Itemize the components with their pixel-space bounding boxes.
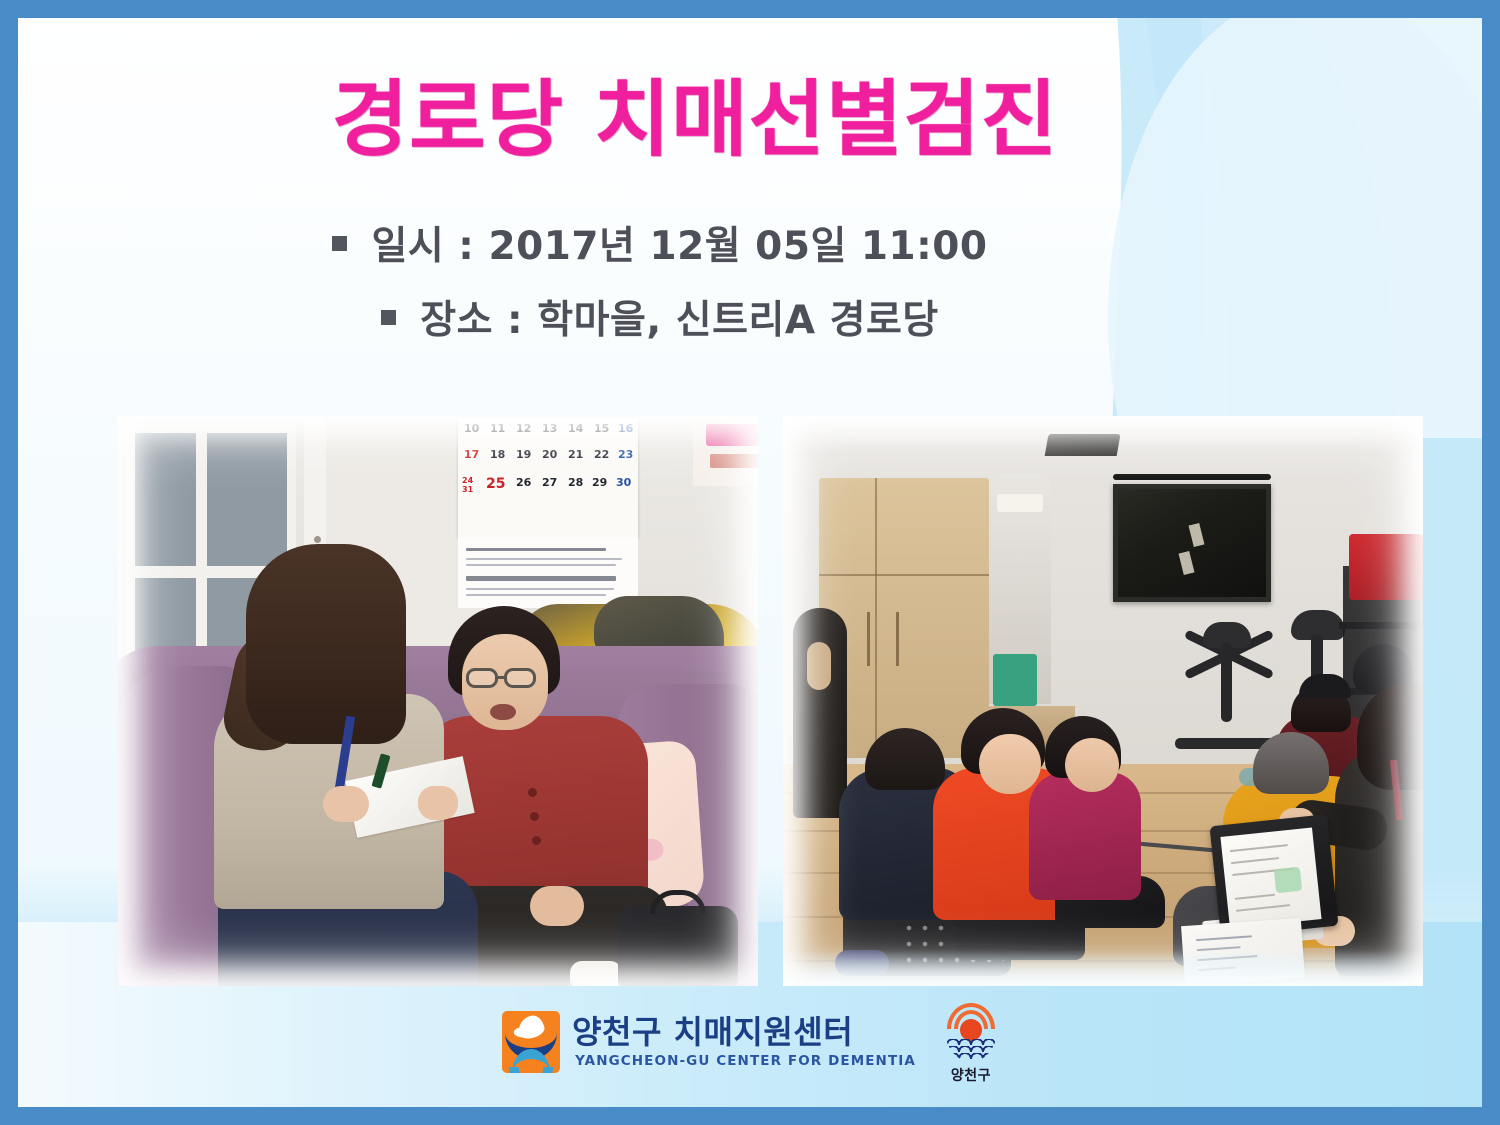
emblem-wave-line [947, 1053, 995, 1059]
senior-participant-sock [570, 961, 622, 986]
photo-left-content: 10 11 12 13 14 15 16 17 18 19 20 21 [118, 416, 758, 986]
dementia-center-mark-icon [502, 1011, 560, 1073]
cabinet-handle [867, 612, 870, 666]
photo-right-content [783, 416, 1423, 986]
ceiling-light [997, 494, 1043, 512]
form-highlight [1274, 867, 1302, 894]
screening-form [1220, 827, 1321, 928]
black-cap [1299, 674, 1351, 698]
cabinet-handle [896, 612, 899, 666]
poster-subtitle-block [710, 454, 758, 468]
staff-hair [246, 544, 406, 744]
sweater-button [530, 812, 539, 821]
square-bullet-icon [332, 236, 347, 251]
senior-1-slipper [835, 950, 889, 976]
cabinet-seam [819, 574, 989, 576]
senior-participant-hand [530, 886, 584, 926]
poster-title-block [706, 424, 758, 446]
exercise-bike-column [1221, 642, 1232, 722]
square-bullet-icon [381, 310, 396, 325]
red-appliance [1349, 534, 1423, 600]
door-knob [314, 536, 321, 543]
detail-row-date: 일시 : 2017년 12월 05일 11:00 [18, 215, 1302, 271]
slide-root: 경로당 치매선별검진 일시 : 2017년 12월 05일 11:00 장소 :… [0, 0, 1500, 1125]
eyeglasses-left-lens [466, 668, 498, 688]
senior-2-face [979, 734, 1041, 794]
cabinet-seam [875, 478, 877, 758]
green-basket [993, 654, 1037, 706]
detail-place-text: 장소 : 학마을, 신트리A 경로당 [420, 289, 939, 345]
logo-korean-name: 양천구 치매지원센터 [572, 1016, 916, 1048]
district-label: 양천구 [951, 1065, 991, 1085]
sweater-button [532, 836, 541, 845]
dementia-center-logo: 양천구 치매지원센터 YANGCHEON-GU CENTER FOR DEMEN… [502, 1011, 916, 1073]
slide-canvas: 경로당 치매선별검진 일시 : 2017년 12월 05일 11:00 장소 :… [18, 18, 1482, 1107]
photo-right [783, 416, 1423, 986]
page-title: 경로당 치매선별검진 [18, 52, 1482, 172]
wall-calendar: 10 11 12 13 14 15 16 17 18 19 20 21 [458, 418, 638, 538]
emblem-wave-line [947, 1046, 995, 1052]
wooden-chair-back [793, 608, 847, 818]
yangcheon-gu-emblem-icon [944, 999, 998, 1061]
district-emblem-group: 양천구 [944, 999, 998, 1085]
emblem-wave-line [947, 1039, 995, 1045]
logo-english-name: YANGCHEON-GU CENTER FOR DEMENTIA [572, 1055, 916, 1069]
shelf-plank [1339, 622, 1423, 629]
detail-date-text: 일시 : 2017년 12월 05일 11:00 [371, 215, 987, 271]
emblem-sun-icon [960, 1019, 982, 1041]
paper-documents-on-floor [1181, 918, 1305, 986]
eyeglasses-bridge [498, 676, 506, 679]
staff-hand-holding [418, 786, 458, 820]
eyeglasses-right-lens [504, 668, 536, 688]
detail-list: 일시 : 2017년 12월 05일 11:00 장소 : 학마을, 신트리A … [18, 215, 1482, 363]
logo-text-block: 양천구 치매지원센터 YANGCHEON-GU CENTER FOR DEMEN… [572, 1016, 916, 1069]
footer-logos: 양천구 치매지원센터 YANGCHEON-GU CENTER FOR DEMEN… [18, 999, 1482, 1085]
emblem-waves-icon [944, 1039, 998, 1061]
painting-hanger-rod [1113, 474, 1271, 480]
chair-backrest-opening [807, 642, 831, 690]
black-bag [618, 906, 738, 986]
calendar-footer [458, 538, 638, 608]
detail-row-place: 장소 : 학마을, 신트리A 경로당 [18, 289, 1302, 345]
photo-left: 10 11 12 13 14 15 16 17 18 19 20 21 [118, 416, 758, 986]
senior-3-face [1065, 738, 1119, 792]
staff-hand-writing [323, 786, 369, 822]
senior-participant-mouth [490, 704, 516, 720]
sweater-button [528, 788, 537, 797]
